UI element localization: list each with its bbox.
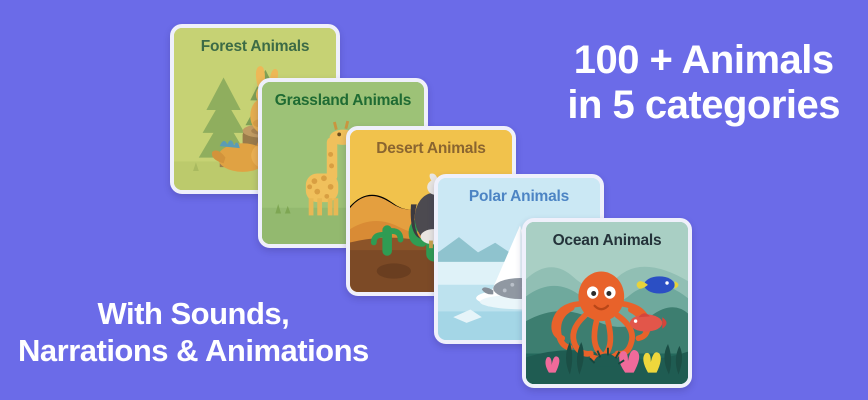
card-title: Forest Animals: [174, 38, 336, 56]
headline-primary-line2: in 5 categories: [567, 83, 840, 128]
category-card-ocean[interactable]: Ocean Animals: [522, 218, 692, 388]
headline-primary-line1: 100 + Animals: [574, 38, 834, 82]
headline-primary: 100 + Animals in 5 categories: [567, 38, 840, 128]
card-title: Grassland Animals: [262, 92, 424, 110]
headline-secondary-line2: Narrations & Animations: [18, 333, 369, 370]
promo-banner: Forest Animals: [0, 0, 868, 400]
card-title: Ocean Animals: [526, 232, 688, 250]
headline-secondary-line1: With Sounds,: [98, 296, 290, 331]
card-title: Desert Animals: [350, 140, 512, 158]
card-title: Polar Animals: [438, 188, 600, 206]
headline-secondary: With Sounds, Narrations & Animations: [18, 296, 369, 369]
